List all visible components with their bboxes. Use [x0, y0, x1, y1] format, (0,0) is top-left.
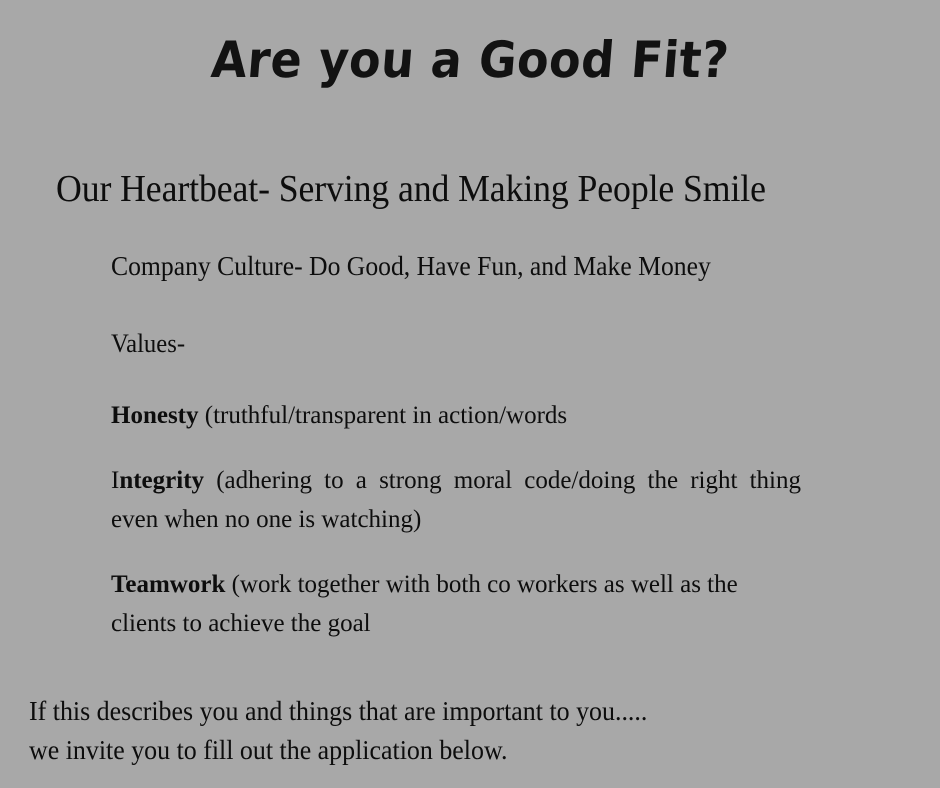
- page-title: Are you a Good Fit?: [209, 34, 731, 87]
- value-name-integrity: Integrity: [111, 467, 204, 494]
- value-item-integrity: Integrity (adhering to a strong moral co…: [111, 461, 801, 539]
- value-desc-honesty: (truthful/transparent in action/words: [205, 402, 567, 429]
- body-content: Company Culture- Do Good, Have Fun, and …: [111, 250, 811, 643]
- company-culture-text: Company Culture- Do Good, Have Fun, and …: [111, 250, 776, 282]
- values-label: Values-: [111, 328, 776, 359]
- value-item-honesty: Honesty (truthful/transparent in action/…: [111, 396, 801, 435]
- value-name-rest-teamwork: Teamwork: [111, 571, 225, 598]
- closing-line-2: we invite you to fill out the applicatio…: [29, 731, 855, 770]
- value-name-teamwork: Teamwork: [111, 571, 225, 598]
- value-desc-integrity: (adhering to a strong moral code/doing t…: [111, 467, 801, 533]
- value-name-rest-integrity: ntegrity: [119, 467, 204, 494]
- closing-paragraph: If this describes you and things that ar…: [29, 692, 855, 771]
- heading-heartbeat: Our Heartbeat- Serving and Making People…: [56, 168, 846, 211]
- slide-canvas: Are you a Good Fit? Our Heartbeat- Servi…: [0, 0, 940, 788]
- value-name-honesty: Honesty: [111, 402, 199, 429]
- closing-line-1: If this describes you and things that ar…: [29, 692, 855, 731]
- title-container: Are you a Good Fit?: [0, 34, 940, 87]
- value-name-rest-honesty: Honesty: [111, 402, 199, 429]
- value-item-teamwork: Teamwork (work together with both co wor…: [111, 565, 801, 643]
